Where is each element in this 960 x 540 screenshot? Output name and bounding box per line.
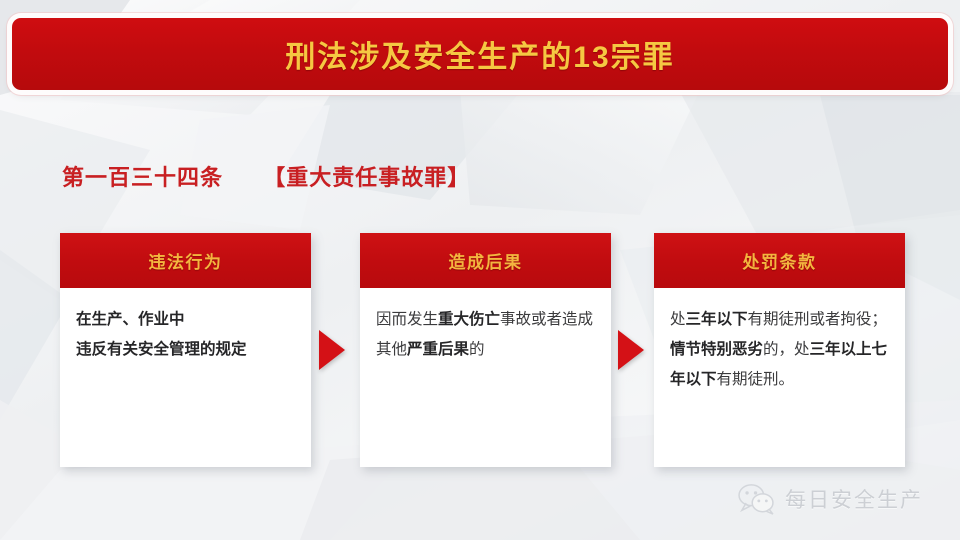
body-text: 有期徒刑。 xyxy=(717,371,795,388)
body-text: 因而发生 xyxy=(376,311,438,328)
body-text: 有期徒刑或者拘役； xyxy=(748,311,888,328)
emphasis-text: 违反有关安全管理的规定 xyxy=(76,341,247,358)
watermark-text: 每日安全生产 xyxy=(785,484,923,514)
body-text: 处 xyxy=(670,311,686,328)
arrow-right-icon xyxy=(618,330,644,370)
emphasis-text: 三年以下 xyxy=(686,311,748,328)
card-body-line: 情节特别恶劣的，处三年以上七年以下有期徒刑。 xyxy=(670,335,890,395)
card-header-label: 处罚条款 xyxy=(743,248,817,273)
card-consequence: 造成后果 因而发生重大伤亡事故或者造成其他严重后果的 xyxy=(360,233,611,467)
arrow-right-icon xyxy=(319,330,345,370)
slide-canvas: 刑法涉及安全生产的13宗罪 第一百三十四条 【重大责任事故罪】 违法行为 在生产… xyxy=(0,0,960,540)
page-title: 刑法涉及安全生产的13宗罪 xyxy=(285,32,674,76)
card-violation-act: 违法行为 在生产、作业中违反有关安全管理的规定 xyxy=(60,233,311,467)
card-header-penalty-clause: 处罚条款 xyxy=(654,233,905,288)
emphasis-text: 严重后果 xyxy=(407,341,469,358)
card-body-line: 处三年以下有期徒刑或者拘役； xyxy=(670,305,890,335)
body-text: 的，处 xyxy=(763,341,810,358)
card-body-line: 因而发生重大伤亡事故或者造成其他严重后果的 xyxy=(376,305,596,365)
watermark: 每日安全生产 xyxy=(737,483,923,515)
emphasis-text: 重大伤亡 xyxy=(438,311,500,328)
slide-title-bar: 刑法涉及安全生产的13宗罪 xyxy=(12,18,948,90)
card-body-line: 违反有关安全管理的规定 xyxy=(76,335,296,365)
emphasis-text: 在生产、作业中 xyxy=(76,311,185,328)
card-body-consequence: 因而发生重大伤亡事故或者造成其他严重后果的 xyxy=(360,288,611,467)
emphasis-text: 情节特别恶劣 xyxy=(670,341,763,358)
card-header-consequence: 造成后果 xyxy=(360,233,611,288)
card-body-violation-act: 在生产、作业中违反有关安全管理的规定 xyxy=(60,288,311,467)
card-header-label: 违法行为 xyxy=(149,248,223,273)
article-name: 【重大责任事故罪】 xyxy=(263,165,470,190)
card-body-line: 在生产、作业中 xyxy=(76,305,296,335)
card-penalty-clause: 处罚条款 处三年以下有期徒刑或者拘役；情节特别恶劣的，处三年以上七年以下有期徒刑… xyxy=(654,233,905,467)
wechat-icon xyxy=(737,483,775,515)
article-heading: 第一百三十四条 【重大责任事故罪】 xyxy=(62,160,470,192)
card-header-label: 造成后果 xyxy=(449,248,523,273)
card-header-violation-act: 违法行为 xyxy=(60,233,311,288)
card-body-penalty-clause: 处三年以下有期徒刑或者拘役；情节特别恶劣的，处三年以上七年以下有期徒刑。 xyxy=(654,288,905,467)
article-number: 第一百三十四条 xyxy=(62,165,223,190)
body-text: 的 xyxy=(469,341,485,358)
